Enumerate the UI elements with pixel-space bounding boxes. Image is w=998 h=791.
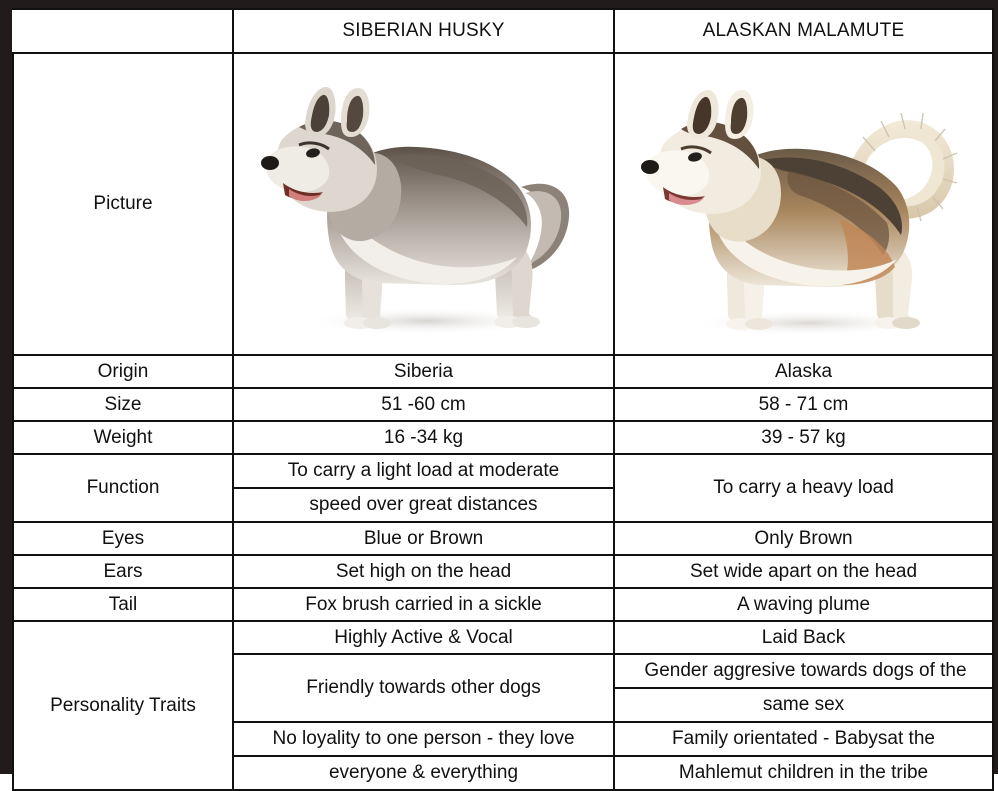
table-row-function-line1: Function To carry a light load at modera…	[13, 454, 993, 488]
cell-malamute-personality-3-line1: Family orientated - Babysat the	[614, 722, 993, 756]
cell-malamute-origin: Alaska	[614, 355, 993, 388]
cell-malamute-ears: Set wide apart on the head	[614, 555, 993, 588]
row-label-eyes: Eyes	[13, 522, 233, 555]
cell-malamute-weight: 39 - 57 kg	[614, 421, 993, 454]
row-label-size: Size	[13, 388, 233, 421]
row-label-picture: Picture	[13, 53, 233, 355]
cell-husky-personality-1: Highly Active & Vocal	[233, 621, 614, 654]
malamute-illustration	[617, 56, 990, 352]
cell-malamute-eyes: Only Brown	[614, 522, 993, 555]
table-row-weight: Weight 16 -34 kg 39 - 57 kg	[13, 421, 993, 454]
cell-husky-personality-2: Friendly towards other dogs	[233, 654, 614, 722]
table-row-picture: Picture	[13, 53, 993, 355]
cell-husky-function-line1: To carry a light load at moderate	[233, 454, 614, 488]
cell-malamute-personality-2-line2: same sex	[614, 688, 993, 722]
cell-husky-size: 51 -60 cm	[233, 388, 614, 421]
cell-malamute-personality-3-line2: Mahlemut children in the tribe	[614, 756, 993, 790]
alaskan-malamute-icon	[639, 59, 969, 349]
row-label-function: Function	[13, 454, 233, 522]
header-cell-siberian-husky: SIBERIAN HUSKY	[233, 9, 614, 53]
header-cell-alaskan-malamute: ALASKAN MALAMUTE	[614, 9, 993, 53]
row-label-weight: Weight	[13, 421, 233, 454]
table-outer-frame: SIBERIAN HUSKY ALASKAN MALAMUTE Picture	[0, 0, 998, 774]
table-inner-surface: SIBERIAN HUSKY ALASKAN MALAMUTE Picture	[12, 8, 992, 765]
row-label-tail: Tail	[13, 588, 233, 621]
husky-illustration	[236, 56, 611, 352]
cell-malamute-personality-1: Laid Back	[614, 621, 993, 654]
row-label-origin: Origin	[13, 355, 233, 388]
cell-malamute-function: To carry a heavy load	[614, 454, 993, 522]
cell-malamute-personality-2-line1-text: Gender aggresive towards dogs of the	[644, 660, 966, 682]
cell-husky-origin: Siberia	[233, 355, 614, 388]
cell-malamute-tail: A waving plume	[614, 588, 993, 621]
cell-husky-weight: 16 -34 kg	[233, 421, 614, 454]
header-cell-blank	[13, 9, 233, 53]
table-row-size: Size 51 -60 cm 58 - 71 cm	[13, 388, 993, 421]
cell-malamute-personality-2-line1: Gender aggresive towards dogs of the	[614, 654, 993, 688]
cell-malamute-size: 58 - 71 cm	[614, 388, 993, 421]
siberian-husky-icon	[259, 59, 589, 349]
row-label-weight-text: Weight	[94, 427, 153, 448]
cell-husky-function-line2: speed over great distances	[233, 488, 614, 522]
cell-husky-picture	[233, 53, 614, 355]
cell-husky-personality-3-line1: No loyality to one person - they love	[233, 722, 614, 756]
table-row-tail: Tail Fox brush carried in a sickle A wav…	[13, 588, 993, 621]
table-row-personality-1: Personality Traits Highly Active & Vocal…	[13, 621, 993, 654]
cell-husky-personality-3-line2: everyone & everything	[233, 756, 614, 790]
table-row-origin: Origin Siberia Alaska	[13, 355, 993, 388]
cell-husky-ears: Set high on the head	[233, 555, 614, 588]
cell-malamute-picture	[614, 53, 993, 355]
table-row-ears: Ears Set high on the head Set wide apart…	[13, 555, 993, 588]
cell-husky-eyes: Blue or Brown	[233, 522, 614, 555]
breed-comparison-table: SIBERIAN HUSKY ALASKAN MALAMUTE Picture	[12, 8, 994, 791]
cell-husky-tail: Fox brush carried in a sickle	[233, 588, 614, 621]
row-label-ears: Ears	[13, 555, 233, 588]
table-header-row: SIBERIAN HUSKY ALASKAN MALAMUTE	[13, 9, 993, 53]
row-label-personality-traits: Personality Traits	[13, 621, 233, 790]
table-row-eyes: Eyes Blue or Brown Only Brown	[13, 522, 993, 555]
